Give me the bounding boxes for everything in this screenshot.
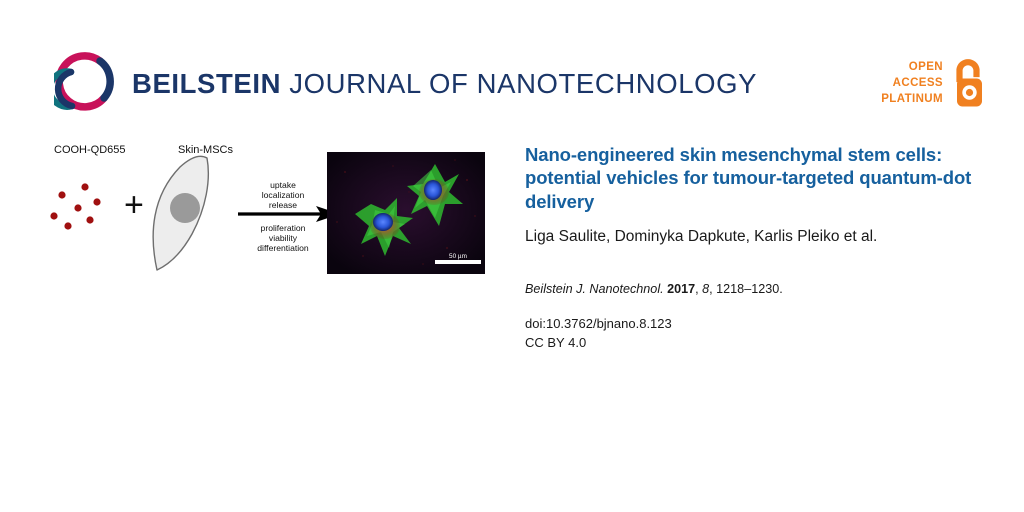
- citation-year: 2017: [667, 282, 695, 296]
- svg-text:localization: localization: [262, 190, 305, 200]
- open-access-unlocked-padlock-icon: [950, 57, 984, 109]
- journal-brand[interactable]: BEILSTEIN JOURNAL OF NANOTECHNOLOGY: [54, 52, 757, 118]
- article-citation: Beilstein J. Nanotechnol. 2017, 8, 1218–…: [525, 280, 985, 298]
- svg-text:proliferation: proliferation: [261, 223, 306, 233]
- citation-journal: Beilstein J. Nanotechnol.: [525, 282, 664, 296]
- citation-pages: 1218–1230.: [716, 282, 783, 296]
- open-access-line-platinum: PLATINUM: [881, 91, 943, 107]
- svg-text:differentiation: differentiation: [257, 243, 309, 253]
- fluorescence-micrograph: 50 µm: [327, 152, 485, 274]
- stem-cell-illustration: [153, 156, 208, 270]
- beilstein-spiral-logo-icon: [54, 52, 116, 118]
- svg-text:release: release: [269, 200, 297, 210]
- scale-bar-label: 50 µm: [449, 253, 467, 260]
- article-doi[interactable]: doi:10.3762/bjnano.8.123: [525, 314, 985, 334]
- article-title[interactable]: Nano-engineered skin mesenchymal stem ce…: [525, 143, 985, 213]
- plus-sign: +: [124, 186, 144, 224]
- svg-text:viability: viability: [269, 233, 298, 243]
- arrow-caption-above: uptake localization release: [262, 180, 305, 210]
- open-access-badge[interactable]: OPEN ACCESS PLATINUM: [881, 57, 984, 109]
- label-cooh-qd655: COOH-QD655: [54, 144, 126, 156]
- open-access-label: OPEN ACCESS PLATINUM: [881, 59, 943, 108]
- article-license[interactable]: CC BY 4.0: [525, 333, 985, 353]
- wordmark-journal-of-nanotechnology: JOURNAL OF NANOTECHNOLOGY: [281, 68, 757, 99]
- cell-nucleus: [170, 193, 200, 223]
- masthead-header: BEILSTEIN JOURNAL OF NANOTECHNOLOGY OPEN…: [0, 0, 1024, 130]
- arrow-caption-below: proliferation viability differentiation: [257, 223, 309, 253]
- journal-wordmark: BEILSTEIN JOURNAL OF NANOTECHNOLOGY: [132, 70, 757, 100]
- svg-text:uptake: uptake: [270, 180, 296, 190]
- article-authors: Liga Saulite, Dominyka Dapkute, Karlis P…: [525, 227, 985, 247]
- open-access-line-access: ACCESS: [881, 75, 943, 91]
- quantum-dot-particles: [50, 183, 100, 229]
- wordmark-beilstein: BEILSTEIN: [132, 68, 281, 99]
- article-metadata: Nano-engineered skin mesenchymal stem ce…: [525, 143, 985, 353]
- open-access-line-open: OPEN: [881, 59, 943, 75]
- micrograph-image: 50 µm: [327, 152, 485, 274]
- label-skin-mscs: Skin-MSCs: [178, 144, 234, 156]
